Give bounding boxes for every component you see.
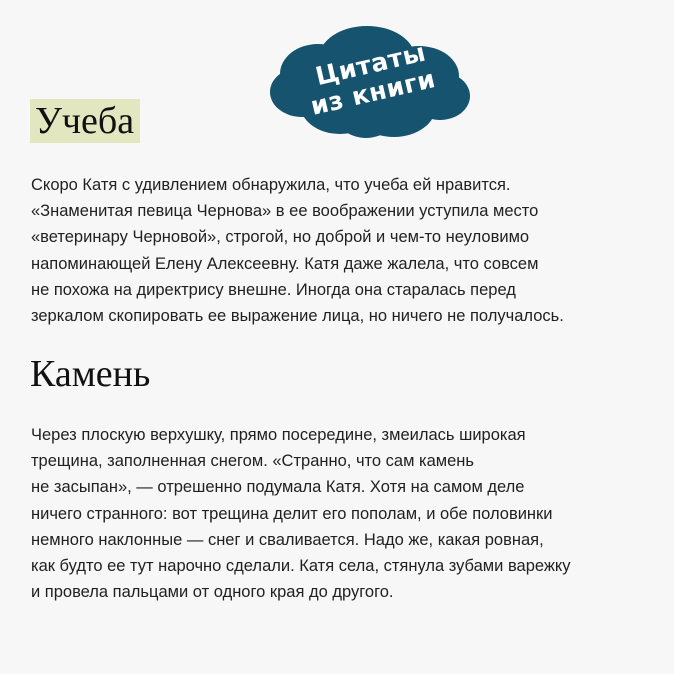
body-line: Через плоскую верхушку, прямо посередине…	[31, 422, 635, 448]
quotes-from-book-badge: Цитаты из книги	[262, 18, 472, 142]
body-line: немного наклонные — снег и сваливается. …	[31, 527, 635, 553]
quote-card: Цитаты из книги Учеба Скоро Катя с удивл…	[0, 0, 674, 674]
body-line: Скоро Катя с удивлением обнаружила, что …	[31, 172, 635, 198]
body-line: «Знаменитая певица Чернова» в ее воображ…	[31, 198, 635, 224]
section-heading-kamen: Камень	[30, 352, 150, 396]
section-heading-ucheba: Учеба	[30, 99, 140, 143]
section-body-kamen: Через плоскую верхушку, прямо посередине…	[31, 422, 635, 605]
body-line: не похожа на директрису внешне. Иногда о…	[31, 277, 635, 303]
body-line: «ветеринару Черновой», строгой, но добро…	[31, 224, 635, 250]
body-line: ничего странного: вот трещина делит его …	[31, 501, 635, 527]
body-line: как будто ее тут нарочно сделали. Катя с…	[31, 553, 635, 579]
body-line: и провела пальцами от одного края до дру…	[31, 579, 635, 605]
cloud-shape-icon	[262, 18, 472, 142]
body-line: трещина, заполненная снегом. «Странно, ч…	[31, 448, 635, 474]
body-line: напоминающей Елену Алексеевну. Катя даже…	[31, 251, 635, 277]
section-body-ucheba: Скоро Катя с удивлением обнаружила, что …	[31, 172, 635, 329]
body-line: зеркалом скопировать ее выражение лица, …	[31, 303, 635, 329]
body-line: не засыпан», — отрешенно подумала Катя. …	[31, 474, 635, 500]
